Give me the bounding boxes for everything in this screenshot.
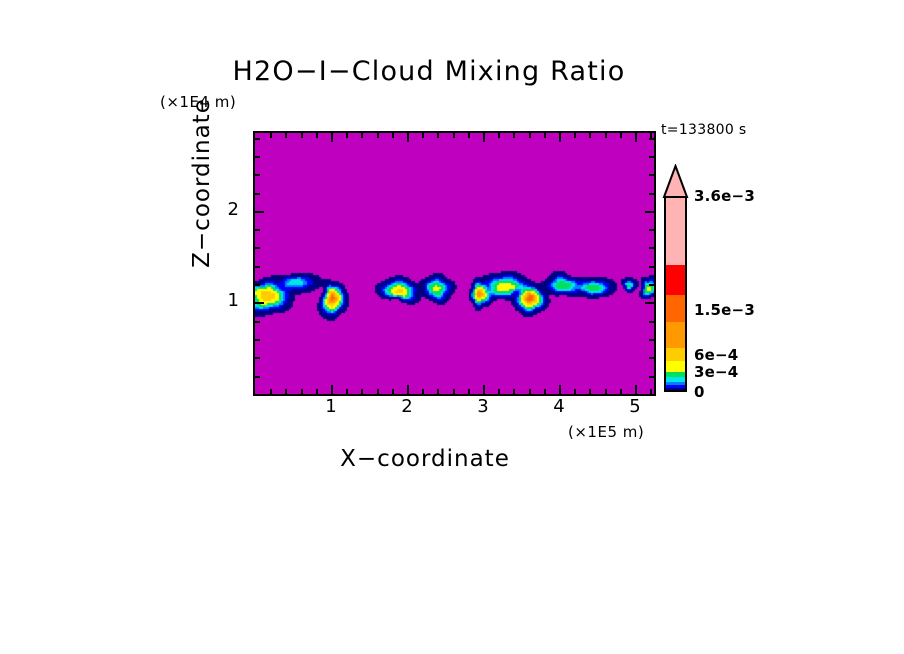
x-tick-minor	[483, 133, 485, 142]
x-tick-minor	[270, 389, 272, 394]
x-tick-label: 1	[311, 396, 351, 417]
x-tick-minor	[270, 133, 272, 138]
x-tick-minor	[285, 389, 287, 394]
x-tick-minor	[377, 133, 379, 138]
x-tick-minor	[559, 385, 561, 394]
x-tick-minor	[392, 133, 394, 138]
x-tick-minor	[650, 389, 652, 394]
x-tick-minor	[468, 133, 470, 138]
colorbar-band	[664, 361, 687, 372]
y-tick-minor	[255, 193, 260, 195]
colorbar	[664, 196, 687, 392]
y-tick-minor	[255, 357, 260, 359]
contour-field	[255, 133, 654, 394]
x-tick-minor	[620, 133, 622, 138]
y-tick-minor	[255, 376, 260, 378]
x-tick-minor	[437, 133, 439, 138]
x-tick-minor	[574, 133, 576, 138]
y-tick-minor	[649, 193, 654, 195]
colorbar-band	[664, 196, 687, 265]
x-tick-minor	[620, 389, 622, 394]
colorbar-label: 3.6e−3	[694, 187, 755, 205]
x-tick-minor	[453, 133, 455, 138]
y-tick-minor	[255, 339, 260, 341]
y-tick-minor	[255, 211, 264, 213]
x-tick-minor	[559, 133, 561, 142]
colorbar-label: 0	[694, 383, 705, 401]
x-tick-minor	[377, 389, 379, 394]
y-tick-minor	[255, 284, 260, 286]
x-tick-minor	[605, 389, 607, 394]
x-tick-minor	[513, 389, 515, 394]
x-tick-minor	[635, 133, 637, 142]
x-tick-minor	[635, 385, 637, 394]
x-tick-minor	[574, 389, 576, 394]
x-tick-minor	[483, 385, 485, 394]
x-tick-minor	[498, 133, 500, 138]
y-tick-minor	[649, 266, 654, 268]
y-tick-minor	[255, 247, 260, 249]
x-tick-minor	[346, 389, 348, 394]
x-axis-label-text: X−coordinate	[340, 446, 510, 472]
y-tick-minor	[649, 138, 654, 140]
y-tick-minor	[255, 138, 260, 140]
colorbar-label: 1.5e−3	[694, 301, 755, 319]
y-tick-minor	[645, 302, 654, 304]
x-tick-minor	[422, 389, 424, 394]
x-axis-unit-label: (×1E5 m)	[568, 423, 644, 441]
x-tick-minor	[316, 133, 318, 138]
chart-title-text: H2O−I−Cloud Mixing Ratio	[233, 56, 626, 87]
y-tick-minor	[255, 174, 260, 176]
x-tick-minor	[605, 133, 607, 138]
y-tick-minor	[649, 229, 654, 231]
y-tick-minor	[649, 247, 654, 249]
y-tick-minor	[649, 376, 654, 378]
x-tick-minor	[453, 389, 455, 394]
y-tick-minor	[649, 339, 654, 341]
x-tick-label: 2	[387, 396, 427, 417]
y-tick-minor	[255, 229, 260, 231]
y-tick-minor	[649, 156, 654, 158]
x-tick-minor	[407, 133, 409, 142]
x-tick-minor	[422, 133, 424, 138]
colorbar-label: 3e−4	[694, 363, 738, 381]
x-tick-minor	[331, 385, 333, 394]
x-tick-minor	[285, 133, 287, 138]
x-tick-label: 5	[615, 396, 655, 417]
y-tick-minor	[255, 321, 260, 323]
x-tick-minor	[544, 133, 546, 138]
x-tick-minor	[301, 389, 303, 394]
x-tick-minor	[361, 389, 363, 394]
x-tick-minor	[498, 389, 500, 394]
x-tick-minor	[589, 133, 591, 138]
chart-title: H2O−I−Cloud Mixing Ratio	[0, 56, 904, 87]
y-tick-label: 2	[213, 199, 239, 220]
y-tick-minor	[645, 211, 654, 213]
colorbar-band	[664, 295, 687, 322]
plot-area	[253, 131, 656, 396]
y-tick-minor	[255, 156, 260, 158]
x-tick-minor	[361, 133, 363, 138]
x-tick-minor	[346, 133, 348, 138]
x-tick-minor	[513, 133, 515, 138]
x-tick-label: 3	[463, 396, 503, 417]
x-tick-minor	[331, 133, 333, 142]
x-tick-label: 4	[539, 396, 579, 417]
x-tick-minor	[544, 389, 546, 394]
colorbar-band	[664, 390, 687, 392]
colorbar-label: 6e−4	[694, 346, 738, 364]
y-tick-minor	[255, 302, 264, 304]
figure-canvas: H2O−I−Cloud Mixing Ratio (×1E4 m) t=1338…	[0, 0, 904, 654]
x-tick-minor	[392, 389, 394, 394]
timestamp-annotation: t=133800 s	[661, 122, 746, 138]
x-tick-minor	[407, 385, 409, 394]
x-tick-minor	[529, 389, 531, 394]
y-tick-minor	[649, 357, 654, 359]
y-tick-minor	[255, 266, 260, 268]
x-tick-minor	[316, 389, 318, 394]
x-tick-minor	[301, 133, 303, 138]
y-tick-minor	[649, 321, 654, 323]
y-tick-minor	[649, 284, 654, 286]
x-axis-label: X−coordinate	[0, 446, 904, 472]
colorbar-band	[664, 322, 687, 348]
x-tick-minor	[468, 389, 470, 394]
x-tick-minor	[437, 389, 439, 394]
y-axis-label: Z−coordinate	[189, 0, 215, 393]
y-tick-label: 1	[213, 290, 239, 311]
y-tick-minor	[649, 174, 654, 176]
x-tick-minor	[589, 389, 591, 394]
colorbar-arrow-cap	[661, 164, 690, 198]
colorbar-band	[664, 348, 687, 361]
x-tick-minor	[529, 133, 531, 138]
colorbar-band	[664, 265, 687, 295]
